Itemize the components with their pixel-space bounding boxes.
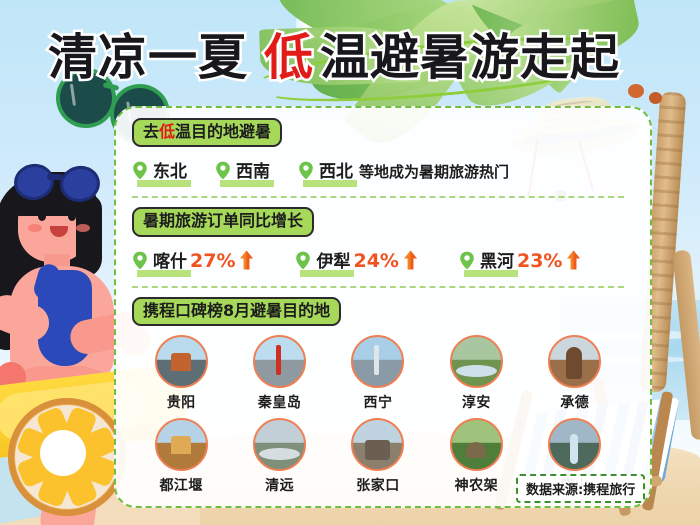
trending-up-arrow-icon <box>565 250 582 271</box>
heading-post: 温目的地避暑 <box>175 122 271 141</box>
destination-thumbnail-shape <box>276 345 281 375</box>
section-order-growth: 暑期旅游订单同比增长 喀什 27% 伊犁 24% 黑河 23% <box>132 207 632 274</box>
title-highlight-char: 低 <box>264 33 314 82</box>
destination-label: 贵阳 <box>167 392 196 412</box>
region-tail-text: 等地成为暑期旅游热门 <box>359 161 509 182</box>
destination-thumbnail-shape <box>570 434 578 464</box>
growth-value: 27% <box>190 250 235 272</box>
destination-label: 神农架 <box>455 475 499 495</box>
destination-thumbnail-shape <box>466 442 486 458</box>
destination-item[interactable]: 张家口 <box>329 418 427 495</box>
growth-item[interactable]: 伊犁 24% <box>295 247 418 275</box>
heading-pre: 去 <box>143 122 159 141</box>
section-heading-destination-ranking: 携程口碑榜8月避暑目的地 <box>132 297 341 326</box>
location-pin-icon <box>132 251 148 271</box>
region-list: 东北 西南 西北 等地成为暑期旅游热门 <box>132 157 632 185</box>
destination-grid: 贵阳秦皇岛西宁淳安承德都江堰清远张家口神农架庐山 <box>132 335 624 495</box>
trending-up-arrow-icon <box>238 250 255 271</box>
destination-label: 淳安 <box>462 392 491 412</box>
destination-thumbnail-shape <box>365 440 390 460</box>
destination-thumbnail-shape <box>566 347 582 379</box>
growth-value: 24% <box>353 250 398 272</box>
section-heading-order-growth: 暑期旅游订单同比增长 <box>132 207 314 236</box>
region-item[interactable]: 西北 <box>298 157 355 185</box>
destination-label: 秦皇岛 <box>258 392 302 412</box>
destination-item[interactable]: 贵阳 <box>132 335 230 412</box>
destination-thumbnail-shape <box>171 353 191 371</box>
region-label: 西南 <box>234 157 272 185</box>
trending-up-arrow-icon <box>402 250 419 271</box>
title-part-one: 清凉一夏 <box>48 33 248 82</box>
destination-thumbnail-shape <box>259 448 300 460</box>
location-pin-icon <box>215 161 231 181</box>
destination-label: 都江堰 <box>159 475 203 495</box>
life-buoy-icon <box>8 398 126 516</box>
swim-goggles-icon <box>12 164 98 194</box>
destination-thumbnail-shape <box>456 365 497 377</box>
destination-thumbnail <box>155 418 208 471</box>
destination-thumbnail <box>548 418 601 471</box>
region-item[interactable]: 东北 <box>132 157 189 185</box>
content-body: 去低温目的地避暑 东北 西南 西北 等地成为暑期旅游热门 暑期旅游 <box>132 118 632 495</box>
section-divider <box>132 196 624 198</box>
destination-thumbnail-shape <box>374 345 379 375</box>
destination-item[interactable]: 承德 <box>526 335 624 412</box>
growth-city-label: 黑河 <box>478 247 516 275</box>
growth-value: 23% <box>517 250 562 272</box>
section-divider <box>132 286 624 288</box>
growth-item[interactable]: 喀什 27% <box>132 247 255 275</box>
destination-thumbnail <box>351 418 404 471</box>
destination-item[interactable]: 西宁 <box>329 335 427 412</box>
infographic-canvas: 清凉一夏 低 温避暑游走起 去低温目的地避暑 东北 西南 西北 等地成为 <box>0 0 700 525</box>
region-item[interactable]: 西南 <box>215 157 272 185</box>
destination-thumbnail-shape <box>171 436 191 454</box>
location-pin-icon <box>132 161 148 181</box>
destination-item[interactable]: 淳安 <box>427 335 525 412</box>
region-label: 东北 <box>151 157 189 185</box>
destination-thumbnail <box>253 335 306 388</box>
destination-thumbnail <box>351 335 404 388</box>
location-pin-icon <box>295 251 311 271</box>
growth-city-label: 伊犁 <box>314 247 352 275</box>
growth-list: 喀什 27% 伊犁 24% 黑河 23% <box>132 247 632 275</box>
destination-item[interactable]: 清远 <box>230 418 328 495</box>
section-heading-cool-destinations: 去低温目的地避暑 <box>132 118 282 147</box>
destination-thumbnail <box>450 335 503 388</box>
location-pin-icon <box>459 251 475 271</box>
destination-item[interactable]: 都江堰 <box>132 418 230 495</box>
section-destination-ranking: 携程口碑榜8月避暑目的地 贵阳秦皇岛西宁淳安承德都江堰清远张家口神农架庐山 <box>132 297 632 495</box>
title-part-two: 温避暑游走起 <box>320 33 620 82</box>
destination-thumbnail <box>155 335 208 388</box>
destination-label: 张家口 <box>356 475 400 495</box>
growth-item[interactable]: 黑河 23% <box>459 247 582 275</box>
destination-thumbnail <box>253 418 306 471</box>
destination-thumbnail <box>450 418 503 471</box>
destination-item[interactable]: 秦皇岛 <box>230 335 328 412</box>
section-cool-destinations: 去低温目的地避暑 东北 西南 西北 等地成为暑期旅游热门 <box>132 118 632 185</box>
destination-label: 承德 <box>560 392 589 412</box>
destination-thumbnail <box>548 335 601 388</box>
page-title: 清凉一夏 低 温避暑游走起 <box>48 24 620 90</box>
region-label: 西北 <box>317 157 355 185</box>
destination-label: 西宁 <box>363 392 392 412</box>
location-pin-icon <box>298 161 314 181</box>
growth-city-label: 喀什 <box>151 247 189 275</box>
heading-red-char: 低 <box>159 122 175 141</box>
data-source-note: 数据来源:携程旅行 <box>516 474 645 503</box>
destination-item[interactable]: 神农架 <box>427 418 525 495</box>
destination-label: 清远 <box>265 475 294 495</box>
